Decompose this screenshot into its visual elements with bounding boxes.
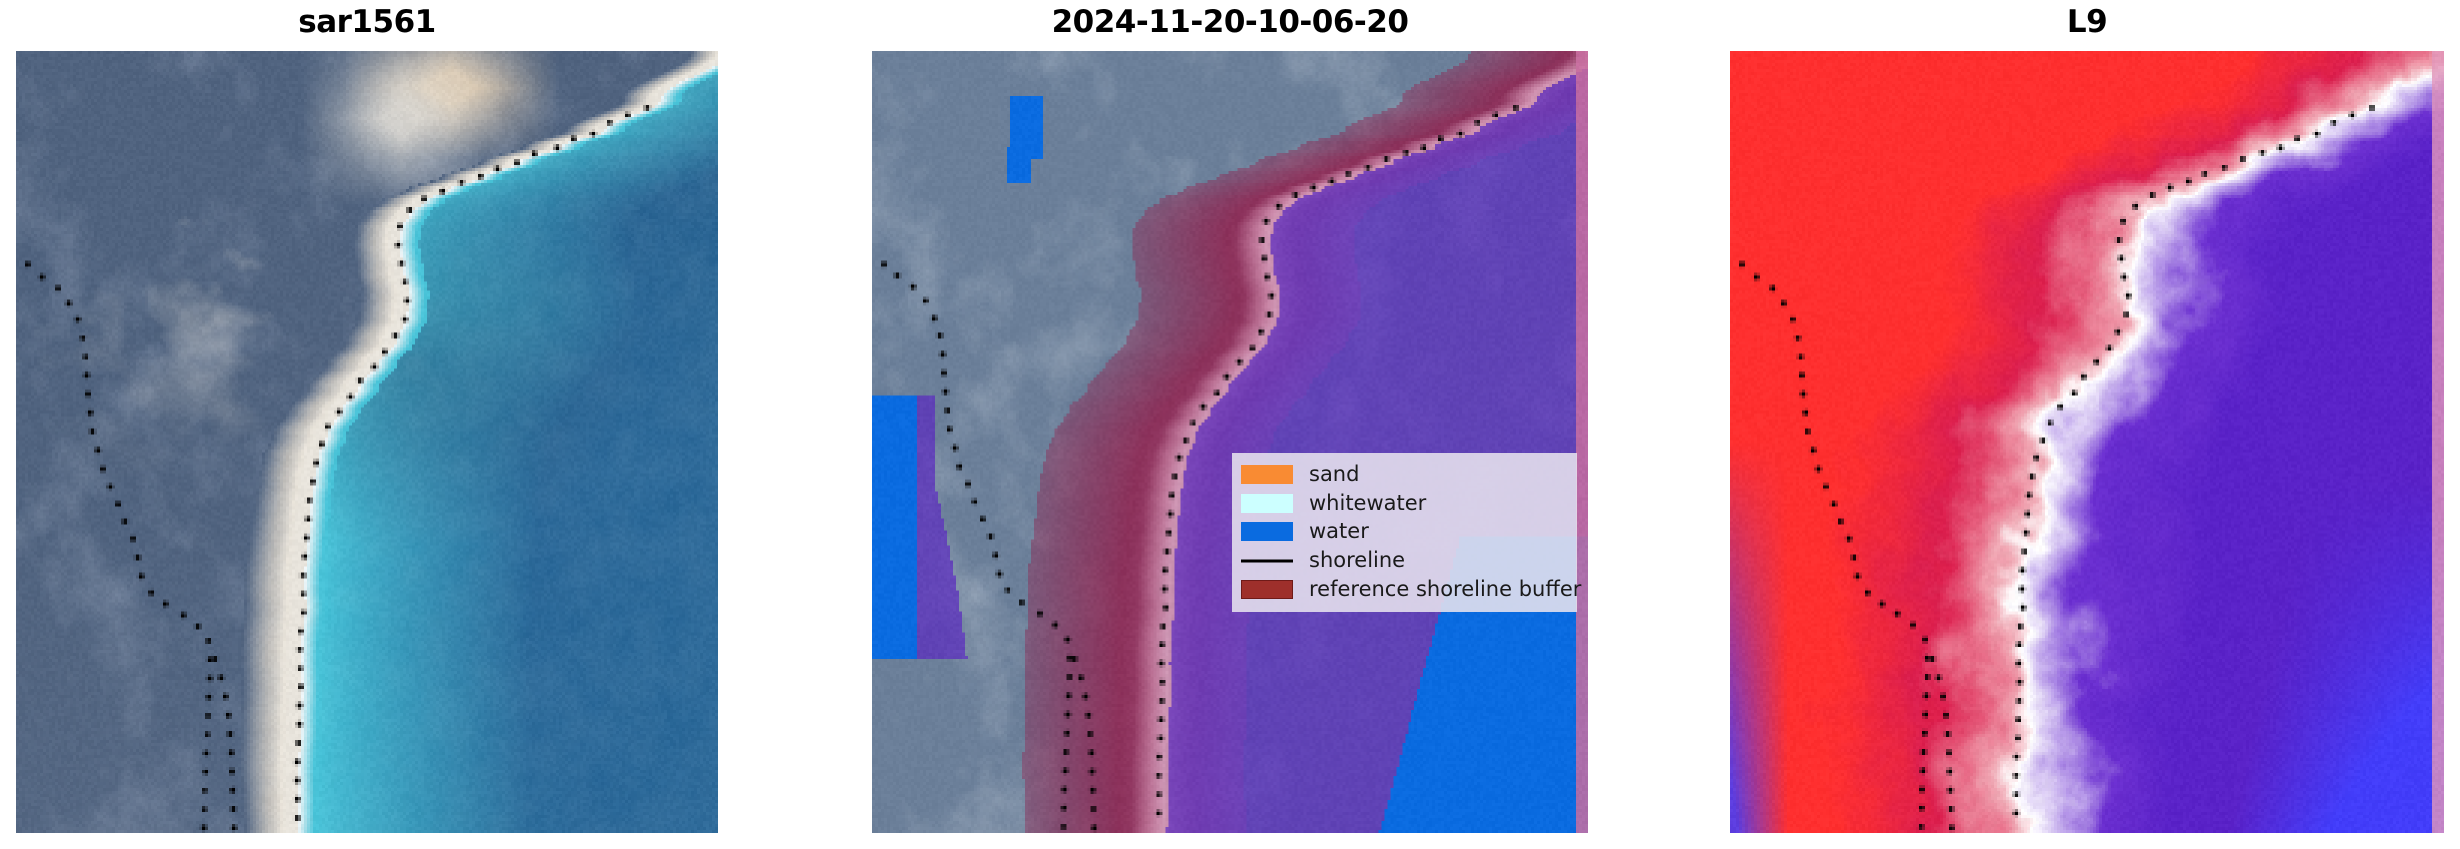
legend-row-shoreline[interactable]: shoreline bbox=[1241, 546, 1568, 575]
legend-label-shoreline: shoreline bbox=[1309, 550, 1405, 571]
legend-swatch-shoreline bbox=[1241, 551, 1293, 570]
image-axes-classification[interactable] bbox=[872, 51, 1588, 833]
legend-label-sand: sand bbox=[1309, 464, 1359, 485]
legend-swatch-sand bbox=[1241, 465, 1293, 484]
legend-row-reference-shoreline-buffer[interactable]: reference shoreline buffer bbox=[1241, 575, 1568, 604]
legend-swatch-reference-shoreline-buffer bbox=[1241, 580, 1293, 599]
legend-label-whitewater: whitewater bbox=[1309, 493, 1426, 514]
legend-row-water[interactable]: water bbox=[1241, 518, 1568, 547]
figure-canvas: sar1561 2024-11-20-10-06-20 L9 sandwhite… bbox=[0, 0, 2460, 849]
panel-title-sar1561: sar1561 bbox=[16, 0, 718, 44]
legend-label-reference-shoreline-buffer: reference shoreline buffer bbox=[1309, 579, 1581, 600]
satellite-rgb-image bbox=[16, 51, 718, 833]
legend-swatch-whitewater bbox=[1241, 494, 1293, 513]
legend-box[interactable]: sandwhitewaterwatershorelinereference sh… bbox=[1232, 453, 1577, 612]
legend-row-whitewater[interactable]: whitewater bbox=[1241, 489, 1568, 518]
panel-title-l9: L9 bbox=[1730, 0, 2444, 44]
legend-row-sand[interactable]: sand bbox=[1241, 460, 1568, 489]
image-axes-sar1561[interactable] bbox=[16, 51, 718, 833]
legend-label-water: water bbox=[1309, 521, 1369, 542]
spectral-index-image bbox=[1730, 51, 2444, 833]
panel-title-classification: 2024-11-20-10-06-20 bbox=[872, 0, 1588, 44]
image-axes-l9[interactable] bbox=[1730, 51, 2444, 833]
classification-overlay-image bbox=[872, 51, 1588, 833]
legend-swatch-water bbox=[1241, 522, 1293, 541]
